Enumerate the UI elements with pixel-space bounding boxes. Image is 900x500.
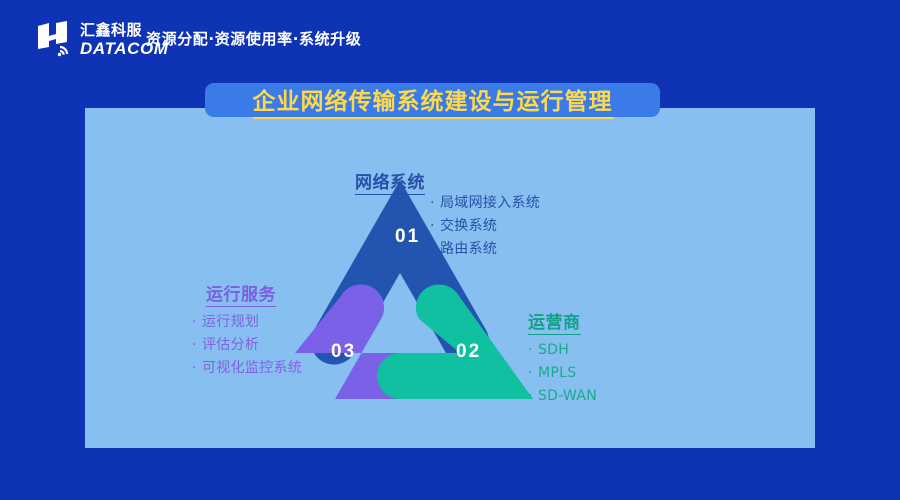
block-service-heading-label: 运行服务 xyxy=(206,285,276,307)
list-item-label: 评估分析 xyxy=(202,337,259,353)
bullet-dot: · xyxy=(430,215,440,238)
list-item-label: 交换系统 xyxy=(440,218,497,234)
block-service-list: ·运行规划 ·评估分析 ·可视化监控系统 xyxy=(192,311,302,380)
segment-number-03: 03 xyxy=(331,341,356,363)
page-title: 企业网络传输系统建设与运行管理 xyxy=(205,83,660,117)
bullet-dot: · xyxy=(192,311,202,334)
block-network-heading: 网络系统 xyxy=(355,168,425,193)
datacom-h-logo-icon xyxy=(36,20,74,60)
bullet-dot: · xyxy=(430,192,440,215)
list-item-label: SD-WAN xyxy=(538,388,597,404)
list-item: ·MPLS xyxy=(528,362,597,385)
segment-number-01: 01 xyxy=(395,226,420,248)
list-item: ·SD-WAN xyxy=(528,385,597,408)
bullet-dot: · xyxy=(528,385,538,408)
bullet-dot: · xyxy=(192,357,202,380)
list-item-label: 路由系统 xyxy=(440,241,497,257)
list-item: ·评估分析 xyxy=(192,334,302,357)
list-item: ·局域网接入系统 xyxy=(430,192,540,215)
block-network-heading-label: 网络系统 xyxy=(355,173,425,195)
list-item: ·可视化监控系统 xyxy=(192,357,302,380)
block-operations-service: 运行服务 ·运行规划 ·评估分析 ·可视化监控系统 xyxy=(192,280,302,380)
slide-root: 汇鑫科服 DATACOM 资源分配·资源使用率·系统升级 企业网络传输系统建设与… xyxy=(0,0,900,500)
list-item-label: 局域网接入系统 xyxy=(440,195,540,211)
list-item-label: SDH xyxy=(538,342,569,358)
list-item-label: 运行规划 xyxy=(202,314,259,330)
bullet-dot: · xyxy=(528,339,538,362)
block-network-list: ·局域网接入系统 ·交换系统 路由系统 xyxy=(430,186,540,261)
list-item: ·SDH xyxy=(528,339,597,362)
segment-number-02: 02 xyxy=(456,341,481,363)
list-item: 路由系统 xyxy=(430,238,540,261)
list-item: ·交换系统 xyxy=(430,215,540,238)
block-service-heading: 运行服务 xyxy=(206,280,276,305)
block-operator-list: ·SDH ·MPLS ·SD-WAN xyxy=(528,339,597,408)
block-operator: 运营商 ·SDH ·MPLS ·SD-WAN xyxy=(528,308,597,408)
bullet-dot: · xyxy=(528,362,538,385)
block-network-system: 网络系统 ·局域网接入系统 ·交换系统 路由系统 xyxy=(355,168,425,193)
page-title-label: 企业网络传输系统建设与运行管理 xyxy=(253,82,613,119)
list-item-label: MPLS xyxy=(538,365,576,381)
header-tagline: 资源分配·资源使用率·系统升级 xyxy=(146,28,361,49)
block-operator-heading-label: 运营商 xyxy=(528,313,581,335)
triangle-segment-02 xyxy=(377,284,533,399)
list-item-label: 可视化监控系统 xyxy=(202,360,302,376)
block-operator-heading: 运营商 xyxy=(528,308,581,333)
bullet-dot: · xyxy=(192,334,202,357)
list-item: ·运行规划 xyxy=(192,311,302,334)
